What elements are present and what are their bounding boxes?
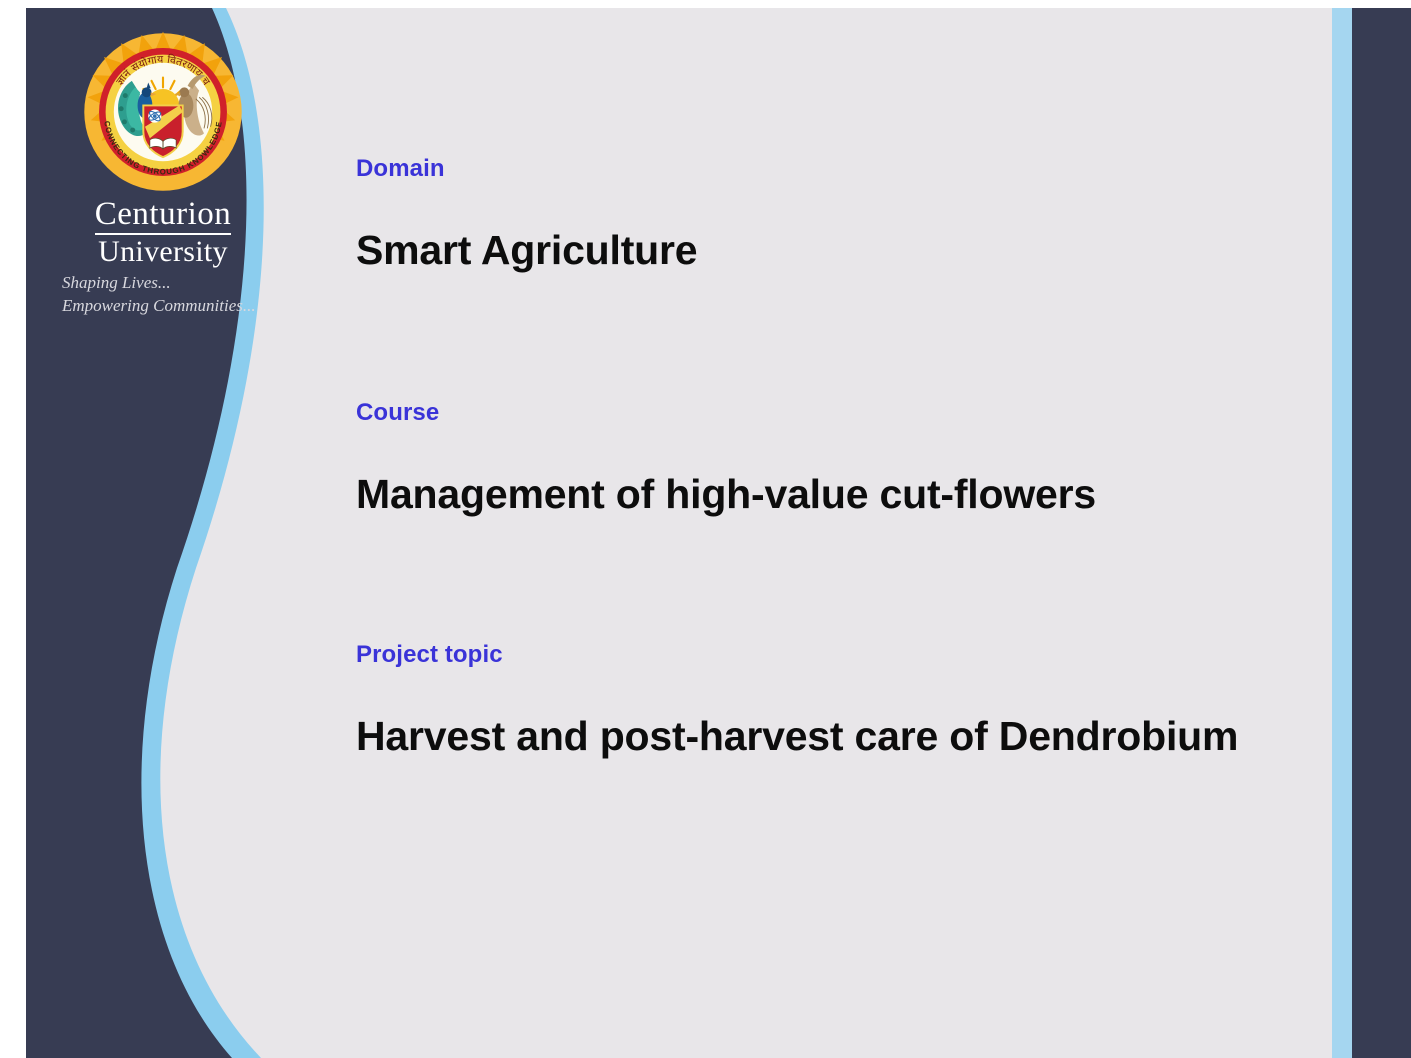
field-domain-value: Smart Agriculture: [356, 228, 1366, 273]
field-course-value: Management of high-value cut-flowers: [356, 472, 1366, 517]
field-domain-label: Domain: [356, 156, 1366, 182]
field-course: Course Management of high-value cut-flow…: [356, 400, 1366, 517]
university-logo-block: ज्ञानं संयोगाय वितरणाय च CONNECTING THRO…: [53, 30, 273, 318]
field-project-topic-value: Harvest and post-harvest care of Dendrob…: [356, 714, 1366, 759]
field-domain: Domain Smart Agriculture: [356, 156, 1366, 273]
wordmark-centurion: Centurion: [95, 198, 231, 235]
university-wordmark: Centurion University: [53, 198, 273, 267]
presentation-slide: ज्ञानं संयोगाय वितरणाय च CONNECTING THRO…: [26, 8, 1411, 1058]
field-course-label: Course: [356, 400, 1366, 426]
tagline-line-2: Empowering Communities...: [62, 295, 273, 318]
field-project-topic: Project topic Harvest and post-harvest c…: [356, 642, 1366, 759]
slide-content: Domain Smart Agriculture Course Manageme…: [356, 8, 1366, 1058]
university-crest-icon: ज्ञानं संयोगाय वितरणाय च CONNECTING THRO…: [81, 30, 245, 194]
field-project-topic-label: Project topic: [356, 642, 1366, 668]
tagline-line-1: Shaping Lives...: [62, 272, 273, 295]
wordmark-university: University: [53, 236, 273, 268]
university-tagline: Shaping Lives... Empowering Communities.…: [53, 272, 273, 318]
